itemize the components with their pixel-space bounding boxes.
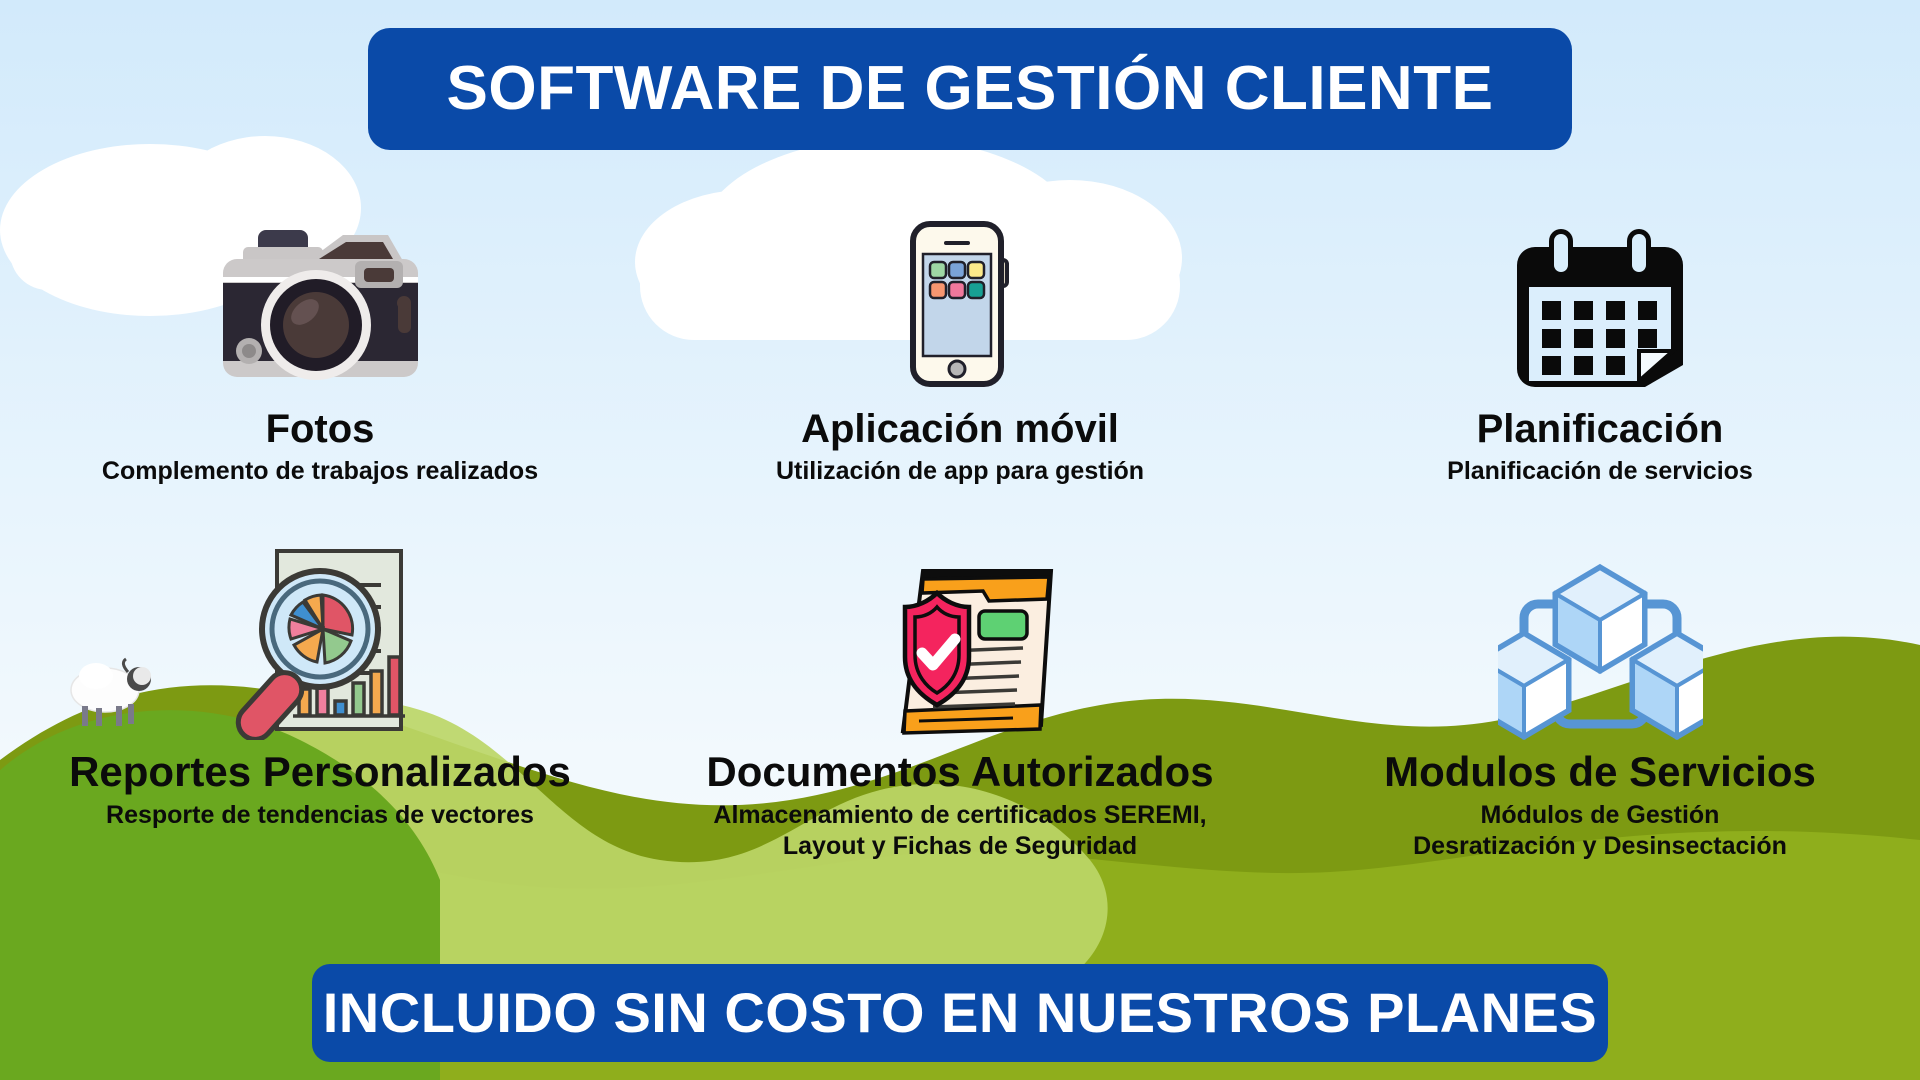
- feature-subtitle-line: Planificación de servicios: [1447, 456, 1753, 487]
- feature-subtitle-line: Almacenamiento de certificados SEREMI,: [713, 800, 1206, 831]
- page-title: SOFTWARE DE GESTIÓN CLIENTE: [447, 58, 1494, 120]
- feature-subtitle-line: Módulos de Gestión: [1413, 800, 1787, 831]
- feature-subtitle-line: Desratización y Desinsectación: [1413, 831, 1787, 862]
- feature-row-1: Fotos Complemento de trabajos realizados…: [0, 210, 1920, 487]
- feature-title: Documentos Autorizados: [706, 750, 1213, 794]
- calendar-icon: [1511, 210, 1689, 390]
- feature-title: Modulos de Servicios: [1384, 750, 1816, 794]
- feature-subtitle: Resporte de tendencias de vectores: [106, 800, 534, 831]
- feature-card-aplicacion-movil[interactable]: Aplicación móvil Utilización de app para…: [640, 210, 1280, 487]
- feature-card-fotos[interactable]: Fotos Complemento de trabajos realizados: [0, 210, 640, 487]
- mobile-phone-icon: [900, 210, 1020, 390]
- feature-subtitle-line: Resporte de tendencias de vectores: [106, 800, 534, 831]
- feature-card-reportes[interactable]: Reportes Personalizados Resporte de tend…: [0, 540, 640, 863]
- footer-cta-text: INCLUIDO SIN COSTO EN NUESTROS PLANES: [323, 985, 1597, 1041]
- feature-title: Reportes Personalizados: [69, 750, 571, 794]
- footer-cta-banner: INCLUIDO SIN COSTO EN NUESTROS PLANES: [312, 964, 1608, 1062]
- feature-subtitle-line: Complemento de trabajos realizados: [102, 456, 538, 487]
- feature-card-modulos[interactable]: Modulos de Servicios Módulos de Gestión …: [1280, 540, 1920, 863]
- feature-subtitle: Planificación de servicios: [1447, 456, 1753, 487]
- report-analytics-icon: [233, 540, 408, 740]
- feature-title: Aplicación móvil: [801, 408, 1119, 450]
- service-modules-icon: [1498, 540, 1703, 740]
- feature-title: Fotos: [266, 408, 375, 450]
- feature-subtitle: Módulos de Gestión Desratización y Desin…: [1413, 800, 1787, 863]
- feature-subtitle: Complemento de trabajos realizados: [102, 456, 538, 487]
- feature-title: Planificación: [1477, 408, 1724, 450]
- certified-document-icon: [863, 540, 1058, 740]
- feature-card-planificacion[interactable]: Planificación Planificación de servicios: [1280, 210, 1920, 487]
- feature-card-documentos[interactable]: Documentos Autorizados Almacenamiento de…: [640, 540, 1280, 863]
- page-title-banner: SOFTWARE DE GESTIÓN CLIENTE: [368, 28, 1572, 150]
- feature-subtitle: Utilización de app para gestión: [776, 456, 1144, 487]
- feature-subtitle-line: Layout y Fichas de Seguridad: [713, 831, 1206, 862]
- camera-icon: [213, 210, 428, 390]
- feature-subtitle: Almacenamiento de certificados SEREMI, L…: [713, 800, 1206, 863]
- feature-subtitle-line: Utilización de app para gestión: [776, 456, 1144, 487]
- feature-row-2: Reportes Personalizados Resporte de tend…: [0, 540, 1920, 863]
